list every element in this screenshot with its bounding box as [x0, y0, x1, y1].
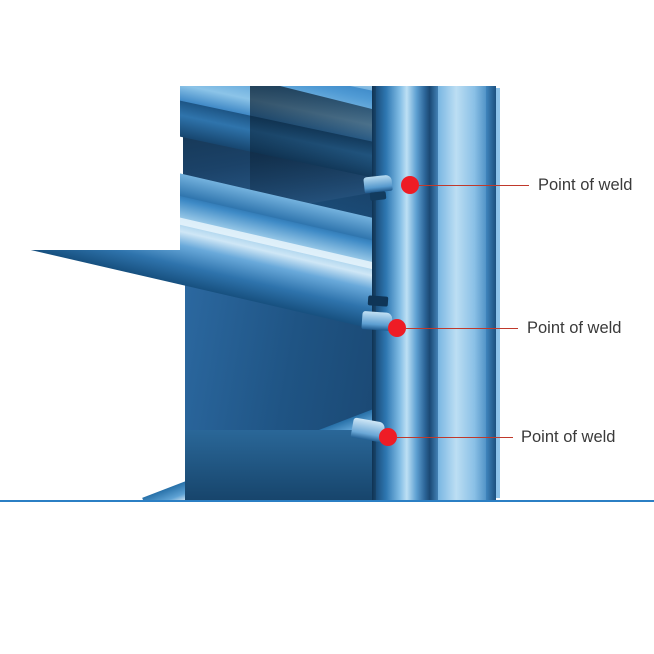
white-margin-lower-left	[0, 330, 130, 500]
weld-point-marker-3	[379, 428, 397, 446]
white-margin-right	[500, 0, 654, 500]
weld-leader-line-1	[419, 185, 529, 186]
product-feature-image: Point of weld Point of weld Point of wel…	[0, 0, 654, 654]
shelving-photo	[0, 0, 654, 500]
weld-tab-upper	[363, 175, 393, 194]
weld-label-2: Point of weld	[527, 319, 621, 338]
column-notch-upper	[370, 191, 387, 201]
caption-area: Reinforcing welding Vertical column supp…	[0, 502, 654, 654]
weld-label-1: Point of weld	[538, 176, 632, 195]
weld-leader-line-2	[406, 328, 518, 329]
column-notch-middle	[368, 295, 389, 306]
weld-point-marker-1	[401, 176, 419, 194]
weld-label-3: Point of weld	[521, 428, 615, 447]
weld-leader-line-3	[397, 437, 513, 438]
lower-shadow-panel	[185, 430, 385, 500]
photo-area: Point of weld Point of weld Point of wel…	[0, 0, 654, 500]
weld-point-marker-2	[388, 319, 406, 337]
